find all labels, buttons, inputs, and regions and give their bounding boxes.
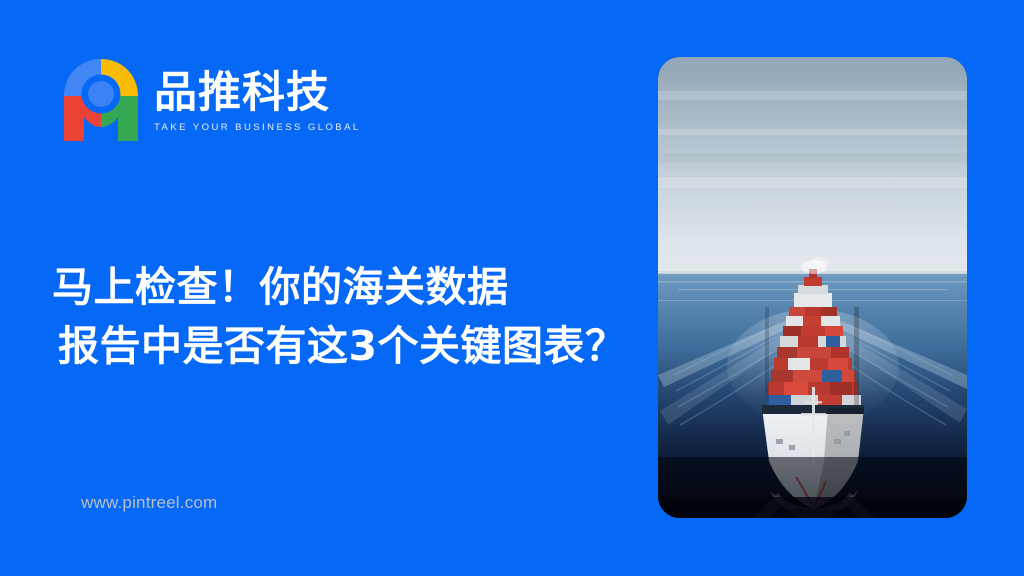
headline-line-1: 马上检查！你的海关数据 bbox=[52, 258, 652, 317]
brand-name-cn: 品推科技 bbox=[154, 71, 361, 116]
brand-tagline: TAKE YOUR BUSINESS GLOBAL bbox=[154, 122, 361, 133]
website-url[interactable]: www.pintreel.com bbox=[81, 493, 217, 513]
headline: 马上检查！你的海关数据 报告中是否有这3个关键图表？ bbox=[52, 258, 652, 377]
hero-photo-container-ship bbox=[658, 57, 967, 518]
brand-logo[interactable]: 品推科技 TAKE YOUR BUSINESS GLOBAL bbox=[62, 57, 361, 143]
brand-wordmark: 品推科技 TAKE YOUR BUSINESS GLOBAL bbox=[154, 67, 361, 133]
headline-line-2: 报告中是否有这3个关键图表？ bbox=[52, 317, 652, 376]
pintreel-ring-logo-icon bbox=[62, 57, 140, 143]
promo-banner: 品推科技 TAKE YOUR BUSINESS GLOBAL 马上检查！你的海关… bbox=[0, 0, 1024, 576]
